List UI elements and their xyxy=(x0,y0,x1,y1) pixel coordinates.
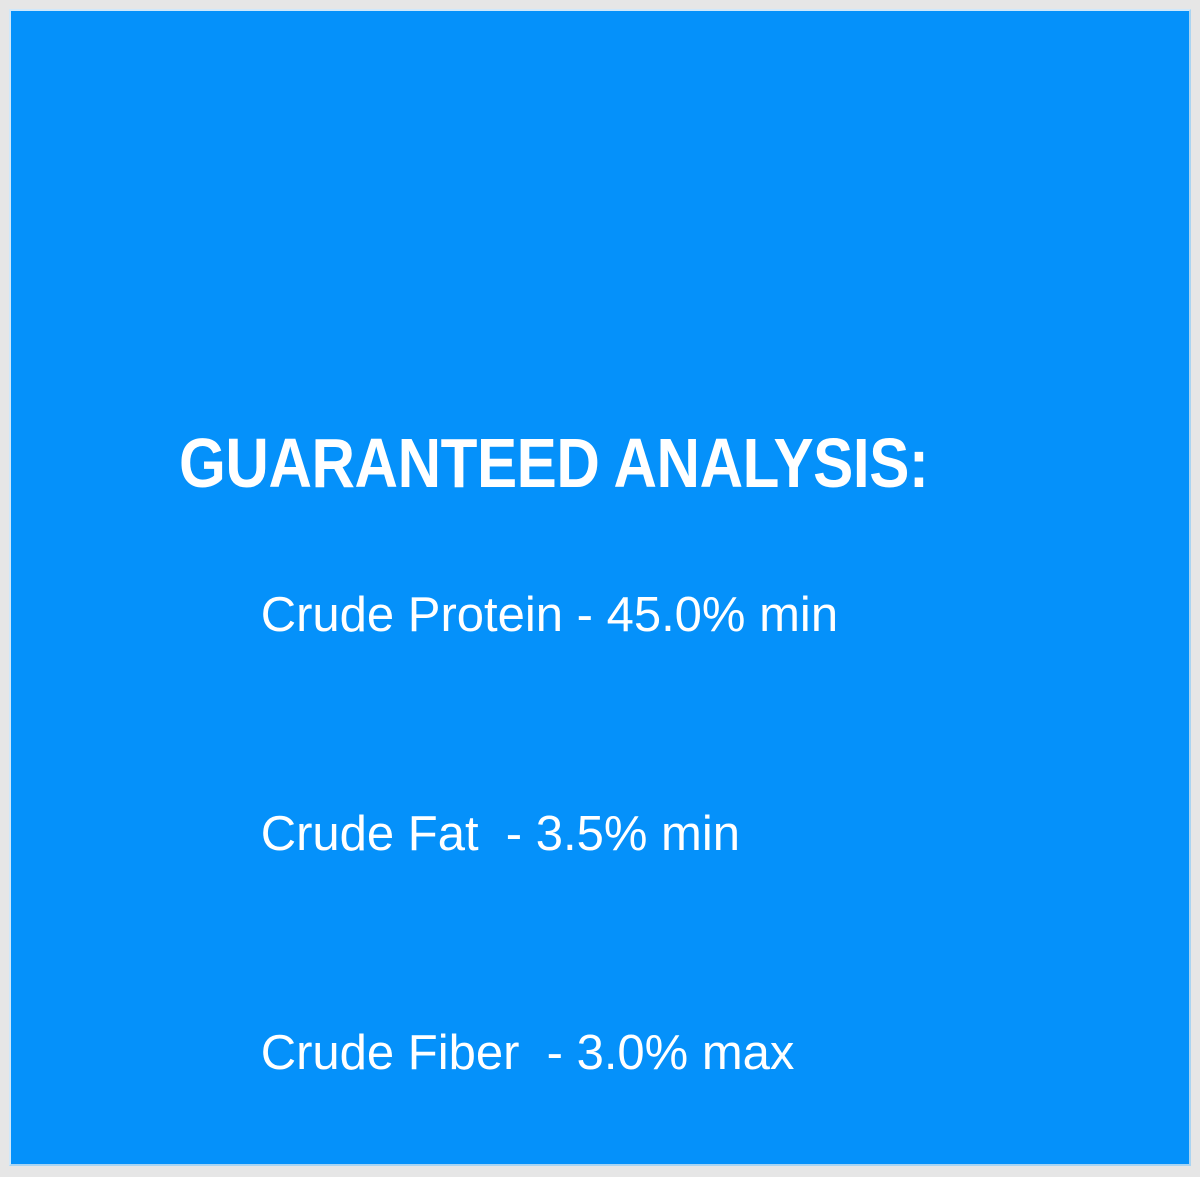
nutrient-label-crude-protein: Crude Protein xyxy=(261,588,563,642)
list-item: Moisture - 13.0% max xyxy=(179,1163,1119,1166)
nutrient-label-crude-fat: Crude Fat xyxy=(261,807,492,861)
nutrient-separator: - xyxy=(492,807,536,861)
nutrient-separator: - xyxy=(563,588,607,642)
guaranteed-analysis-card: GUARANTEED ANALYSIS: Crude Protein - 45.… xyxy=(9,9,1191,1166)
guaranteed-analysis-block: GUARANTEED ANALYSIS: Crude Protein - 45.… xyxy=(179,426,1119,1166)
nutrient-value-crude-fat: 3.5% min xyxy=(536,807,740,861)
list-item: Crude Protein - 45.0% min xyxy=(179,506,1119,725)
nutrient-separator: - xyxy=(533,1026,577,1080)
page-title: GUARANTEED ANALYSIS: xyxy=(179,426,987,500)
list-item: Crude Fiber - 3.0% max xyxy=(179,944,1119,1163)
nutrient-label-crude-fiber: Crude Fiber xyxy=(261,1026,533,1080)
nutrient-value-crude-protein: 45.0% min xyxy=(607,588,839,642)
list-item: Crude Fat - 3.5% min xyxy=(179,725,1119,944)
nutrient-value-crude-fiber: 3.0% max xyxy=(577,1026,795,1080)
